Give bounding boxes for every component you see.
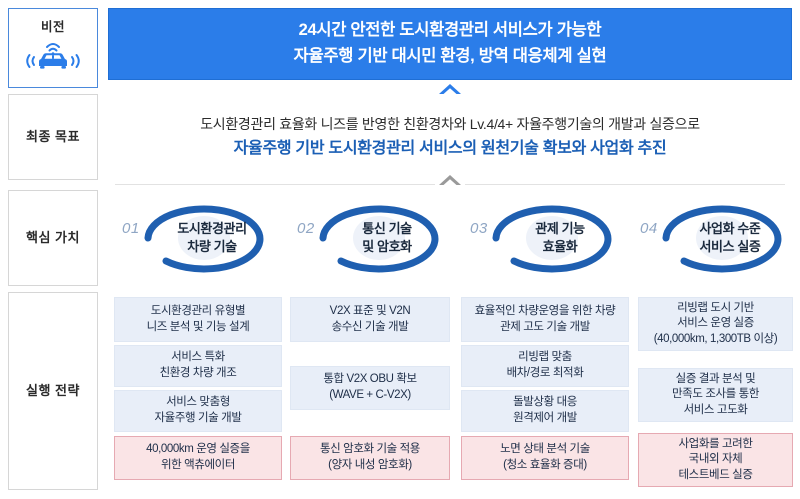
strategy-box: 통신 암호화 기술 적용 (양자 내성 암호화): [290, 436, 450, 480]
strategy-box-text: 사업화를 고려한 국내외 자체 테스트베드 실증: [643, 437, 788, 484]
core-value-02: 02 통신 기술 및 암호화: [295, 200, 463, 276]
vision-banner: 24시간 안전한 도시환경관리 서비스가 가능한 자율주행 기반 대시민 환경,…: [108, 8, 792, 80]
strategy-box: 효율적인 차량운영을 위한 차량 관제 고도 기술 개발: [461, 297, 629, 342]
core-value-line2: 차량 기술: [187, 239, 236, 254]
row-label-core-values: 핵심 가치: [8, 190, 98, 286]
strategy-box-text: 돌발상황 대응 원격제어 개발: [466, 395, 624, 426]
row-label-core-values-text: 핵심 가치: [26, 230, 80, 247]
strategy-box: V2X 표준 및 V2N 송수신 기술 개발: [290, 297, 450, 342]
row-label-vision: 비전: [8, 8, 98, 88]
chevron-up-icon-gray: [437, 173, 463, 187]
strategy-box-text: 리빙랩 맞춤 배차/경로 최적화: [466, 350, 624, 381]
strategy-box-text: 서비스 특화 친환경 차량 개조: [119, 350, 277, 381]
goal-line2: 자율주행 기반 도시환경관리 서비스의 원천기술 확보와 사업화 추진: [234, 136, 667, 162]
strategy-box: 리빙랩 도시 기반 서비스 운영 실증 (40,000km, 1,300TB 이…: [638, 297, 793, 351]
core-value-line2: 효율화: [543, 239, 578, 254]
strategy-box: 도시환경관리 유형별 니즈 분석 및 기능 설계: [114, 297, 282, 342]
core-value-04: 04 사업화 수준 서비스 실증: [638, 200, 800, 276]
row-label-strategy-text: 실행 전략: [26, 383, 80, 400]
strategy-box: 서비스 맞춤형 자율주행 기술 개발: [114, 390, 282, 432]
core-value-label: 관제 기능 효율화: [468, 200, 636, 276]
goal-divider-right: [465, 184, 785, 185]
strategy-box-text: 노면 상태 분석 기술 (청소 효율화 증대): [466, 442, 624, 473]
vision-banner-text: 24시간 안전한 도시환경관리 서비스가 가능한 자율주행 기반 대시민 환경,…: [294, 18, 607, 69]
strategy-box: 리빙랩 맞춤 배차/경로 최적화: [461, 345, 629, 387]
connected-car-icon: [21, 38, 85, 77]
row-label-goal-text: 최종 목표: [26, 129, 80, 146]
strategy-box-text: 효율적인 차량운영을 위한 차량 관제 고도 기술 개발: [466, 304, 624, 335]
goal-divider-left: [115, 184, 435, 185]
strategy-box-text: 40,000km 운영 실증을 위한 액츄에이터: [119, 442, 277, 473]
strategy-box: 돌발상황 대응 원격제어 개발: [461, 390, 629, 432]
strategy-box: 서비스 특화 친환경 차량 개조: [114, 345, 282, 387]
strategy-box: 통합 V2X OBU 확보 (WAVE + C-V2X): [290, 366, 450, 410]
core-value-label: 도시환경관리 차량 기술: [120, 200, 288, 276]
strategy-box-text: 통신 암호화 기술 적용 (양자 내성 암호화): [295, 442, 445, 473]
row-label-vision-text: 비전: [41, 19, 65, 35]
core-value-line1: 통신 기술: [362, 221, 411, 236]
strategy-box-text: 도시환경관리 유형별 니즈 분석 및 기능 설계: [119, 304, 277, 335]
goal-content: 도시환경관리 효율화 니즈를 반영한 친환경차와 Lv.4/4+ 자율주행기술의…: [108, 94, 792, 180]
strategy-box-text: 실증 결과 분석 및 만족도 조사를 통한 서비스 고도화: [643, 372, 788, 419]
core-value-line1: 관제 기능: [535, 221, 584, 236]
vision-banner-line2: 자율주행 기반 대시민 환경, 방역 대응체계 실현: [294, 44, 607, 70]
row-label-strategy: 실행 전략: [8, 292, 98, 490]
strategy-box-text: 서비스 맞춤형 자율주행 기술 개발: [119, 395, 277, 426]
strategy-box-text: V2X 표준 및 V2N 송수신 기술 개발: [295, 304, 445, 335]
vision-banner-line1: 24시간 안전한 도시환경관리 서비스가 가능한: [294, 18, 607, 44]
core-value-label: 통신 기술 및 암호화: [295, 200, 463, 276]
core-value-line2: 서비스 실증: [699, 239, 760, 254]
core-value-03: 03 관제 기능 효율화: [468, 200, 636, 276]
strategy-box: 사업화를 고려한 국내외 자체 테스트베드 실증: [638, 433, 793, 487]
core-value-line2: 및 암호화: [362, 239, 411, 254]
strategy-box-text: 통합 V2X OBU 확보 (WAVE + C-V2X): [295, 372, 445, 403]
core-value-01: 01 도시환경관리 차량 기술: [120, 200, 288, 276]
strategy-box: 실증 결과 분석 및 만족도 조사를 통한 서비스 고도화: [638, 368, 793, 422]
strategy-box: 노면 상태 분석 기술 (청소 효율화 증대): [461, 436, 629, 480]
strategy-box-text: 리빙랩 도시 기반 서비스 운영 실증 (40,000km, 1,300TB 이…: [643, 301, 788, 348]
row-label-goal: 최종 목표: [8, 94, 98, 180]
core-value-line1: 사업화 수준: [699, 221, 760, 236]
core-value-line1: 도시환경관리: [177, 221, 246, 236]
goal-line1: 도시환경관리 효율화 니즈를 반영한 친환경차와 Lv.4/4+ 자율주행기술의…: [200, 113, 700, 135]
infographic-root: 비전 24시간 안전한 도시: [0, 0, 800, 499]
core-value-label: 사업화 수준 서비스 실증: [638, 200, 800, 276]
strategy-box: 40,000km 운영 실증을 위한 액츄에이터: [114, 436, 282, 480]
